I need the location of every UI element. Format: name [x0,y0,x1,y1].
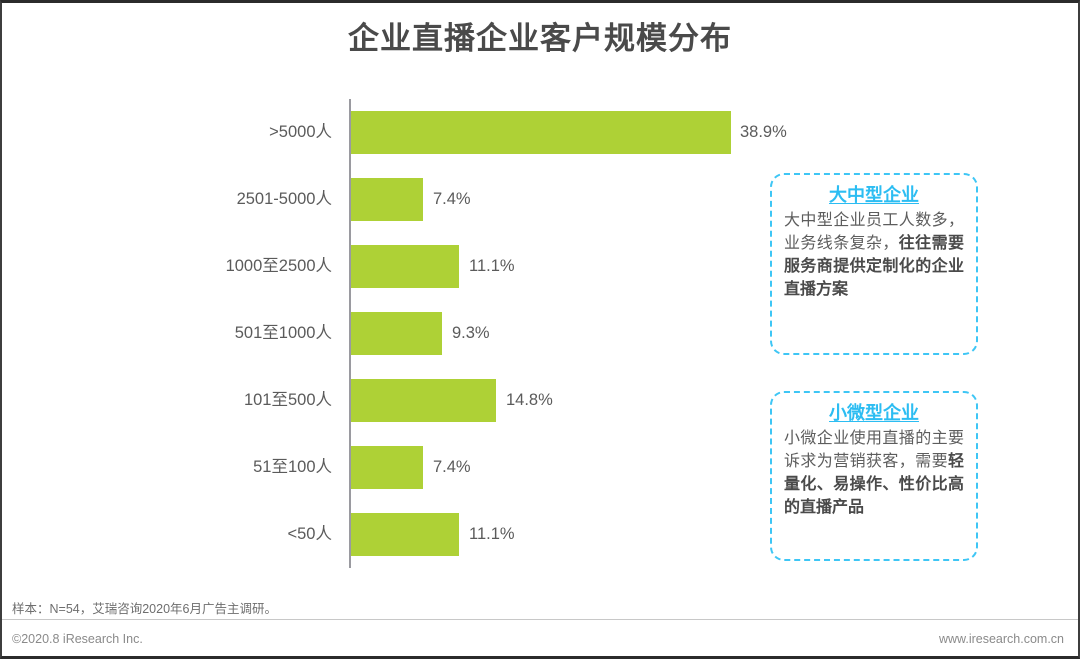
callout-body-normal: 小微企业使用直播的主要诉求为营销获客，需要 [784,430,964,470]
callout-title: 大中型企业 [784,182,964,208]
page-title: 企业直播企业客户规模分布 [2,19,1078,59]
bar [351,513,459,556]
copyright-text: ©2020.8 iResearch Inc. [12,632,143,646]
bar [351,446,423,489]
bar [351,111,731,154]
value-label: 11.1% [469,513,515,556]
callout-title: 小微型企业 [784,400,964,426]
chart-row: >5000人 38.9% [2,111,1078,154]
bar [351,312,442,355]
value-label: 9.3% [452,312,490,355]
category-label: 2501-5000人 [2,178,332,221]
callout-body: 小微企业使用直播的主要诉求为营销获客，需要轻量化、易操作、性价比高的直播产品 [784,427,964,519]
value-label: 7.4% [433,446,471,489]
footer-divider [2,619,1078,620]
category-label: >5000人 [2,111,332,154]
category-label: <50人 [2,513,332,556]
callout-small-enterprise: 小微型企业 小微企业使用直播的主要诉求为营销获客，需要轻量化、易操作、性价比高的… [770,391,978,561]
category-label: 101至500人 [2,379,332,422]
value-label: 7.4% [433,178,471,221]
bar [351,178,423,221]
slide-canvas: 企业直播企业客户规模分布 >5000人 38.9% 2501-5000人 7.4… [0,0,1080,659]
bar [351,379,496,422]
callout-body: 大中型企业员工人数多，业务线条复杂，往往需要服务商提供定制化的企业直播方案 [784,209,964,301]
category-label: 1000至2500人 [2,245,332,288]
category-label: 51至100人 [2,446,332,489]
category-label: 501至1000人 [2,312,332,355]
value-label: 14.8% [506,379,553,422]
website-url: www.iresearch.com.cn [939,632,1064,646]
value-label: 11.1% [469,245,515,288]
source-note: 样本：N=54，艾瑞咨询2020年6月广告主调研。 [12,598,277,617]
callout-large-enterprise: 大中型企业 大中型企业员工人数多，业务线条复杂，往往需要服务商提供定制化的企业直… [770,173,978,355]
bar [351,245,459,288]
value-label: 38.9% [740,111,787,154]
